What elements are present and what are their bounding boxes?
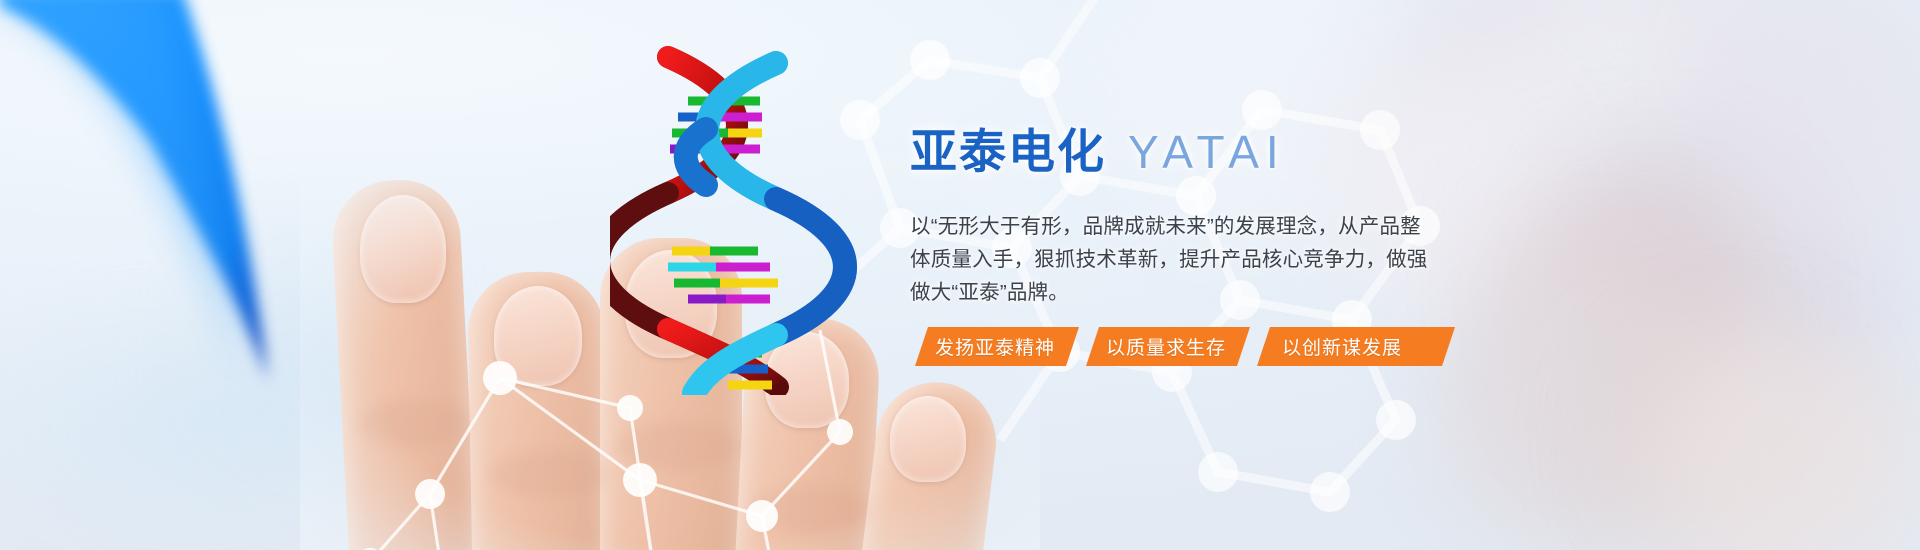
slogan-tag-1-label: 发扬亚泰精神 [935,333,1055,360]
dna-helix-icon [610,35,860,395]
slogan-tag-2-label: 以质量求生存 [1106,333,1226,360]
title-english: YATAI [1128,126,1286,178]
banner-text-block: 亚泰电化YATAI 以“无形大于有形，品牌成就未来”的发展理念，从产品整体质量入… [910,128,1530,310]
slogan-tag-3-label: 以创新谋发展 [1282,333,1402,360]
blue-diagonal-wedge-glow-icon [0,0,300,390]
fingernail [494,286,582,386]
fingernail [890,396,966,482]
banner-title: 亚泰电化YATAI [910,128,1530,175]
banner-description: 以“无形大于有形，品牌成就未来”的发展理念，从产品整体质量入手，狠抓技术革新，提… [910,210,1428,310]
slogan-tag-3[interactable]: 以创新谋发展 [1257,327,1455,366]
slogan-tag-2[interactable]: 以质量求生存 [1086,327,1250,366]
title-chinese: 亚泰电化 [910,125,1106,178]
slogan-tag-1[interactable]: 发扬亚泰精神 [915,327,1079,366]
fingernail [360,195,446,303]
company-banner: 亚泰电化YATAI 以“无形大于有形，品牌成就未来”的发展理念，从产品整体质量入… [0,0,1920,550]
